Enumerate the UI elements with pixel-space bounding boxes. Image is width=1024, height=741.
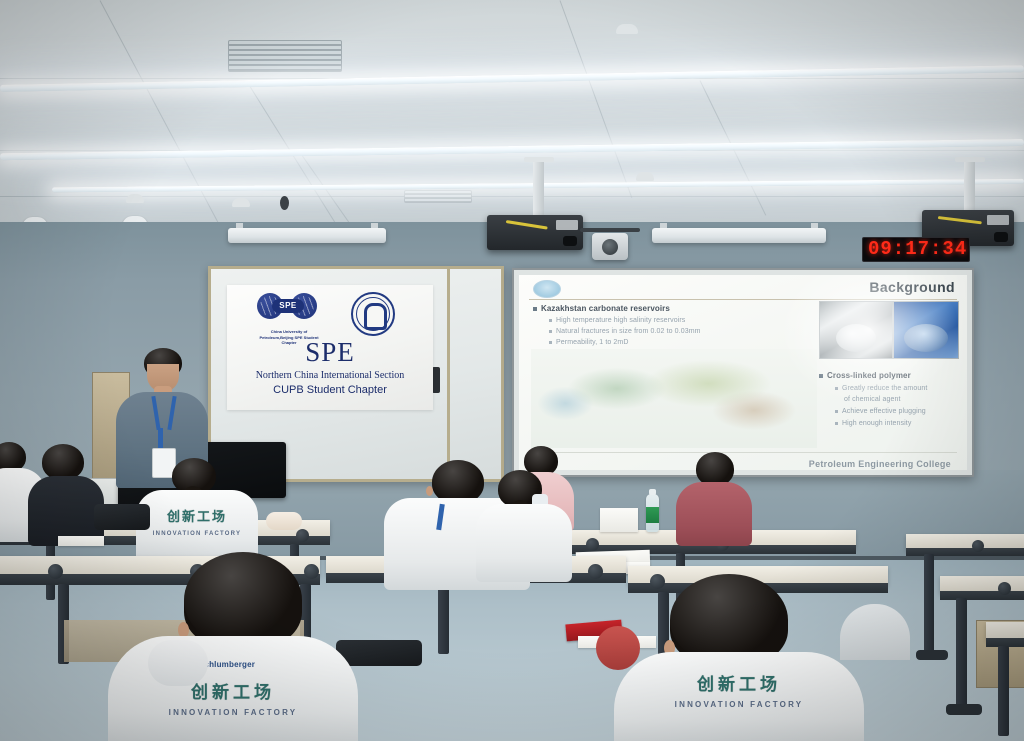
student-torso [676,482,752,546]
banner-headline: SPE [227,337,433,368]
slide-bullet-l4: Permeability, 1 to 2mD [549,339,628,346]
projector-ceiling-plate-left [524,157,554,162]
whiteboard-divider [447,269,450,479]
slide-bullet-r5: High enough intensity [835,420,911,427]
student-head [696,452,734,486]
bottle-cap [649,489,656,495]
student-torso [476,504,572,582]
projector-mount-pole-right [964,160,975,212]
slide-bullet-l1: Kazakhstan carbonate reservoirs [533,304,670,313]
spe-globe-logo-icon: SPE China University of Petroleum,Beijin… [257,293,319,327]
digital-clock: 09:17:34 [862,237,970,262]
smoke-detector-3 [616,24,638,34]
slide-bullet-l2: High temperature high salinity reservoir… [549,317,685,324]
smoke-detector-4 [636,172,654,181]
shirt-logo-english: INNOVATION FACTORY [108,702,358,720]
student-head [42,444,84,480]
projector-mount-pole-left [533,160,544,218]
shirt-logo-english: INNOVATION FACTORY [614,694,864,712]
backpack-on-desk[interactable] [94,504,150,530]
student-middle-maroon [676,452,752,544]
student-foreground-right: 创新工场 INNOVATION FACTORY [614,574,864,741]
ptz-camera-arm [580,228,640,232]
whiteboard-handle[interactable] [432,367,440,393]
student-ponytail-innovation: 创新工场 INNOVATION FACTORY [136,458,258,560]
ceiling-air-vent-secondary [404,190,472,203]
projection-screen: Background Kazakhstan carbonate reservoi… [512,268,974,477]
student-foreground-right-collar [596,626,640,670]
spe-banner: SPE China University of Petroleum,Beijin… [227,285,433,410]
slide-bullet-r4: Achieve effective plugging [835,408,926,415]
projector-ceiling-plate-right [955,157,985,162]
projector-lens-icon [563,236,577,246]
gloves-on-desk [266,512,302,530]
paper-on-desk-center[interactable] [600,508,638,532]
student-left-back-2 [28,444,104,544]
smoke-detector-2 [232,198,250,207]
paper-on-desk-left[interactable] [58,536,104,546]
ceiling-projector-left [487,215,583,250]
ceiling [0,0,1024,232]
student-front-center-ponytail [476,470,572,580]
classroom-photo: SPE China University of Petroleum,Beijin… [0,0,1024,741]
student-foreground-left-arm [148,640,208,686]
banner-chapter-line: CUPB Student Chapter [227,384,433,396]
projector-label [556,220,578,230]
ceiling-air-vent [228,40,342,72]
ptz-camera [592,233,628,260]
slide-bullet-l3: Natural fractures in size from 0.02 to 0… [549,328,701,335]
slide-glare [779,275,959,405]
bottle-label [646,507,659,523]
projector-lens-right-icon [994,232,1008,242]
spe-logo-text: SPE [272,299,304,313]
kazakhstan-map-image [531,349,817,448]
cupb-university-seal-icon [351,292,395,336]
shirt-logo-english: INNOVATION FACTORY [136,522,258,540]
banner-section-line: Northern China International Section [227,370,433,381]
slide-footer: Petroleum Engineering College [809,459,951,469]
wall-light-fixture-right [652,228,826,243]
student-foreground-left: Schlumberger 创新工场 INNOVATION FACTORY [108,552,358,741]
desk-right-3 [986,622,1024,741]
shirt-logo-chinese: 创新工场 [614,670,864,695]
projector-label-right [987,215,1009,225]
water-bottle[interactable] [646,494,659,532]
student-ear [426,486,433,496]
ceiling-speaker [280,196,289,210]
shirt-logo-chinese: 创新工场 [108,678,358,703]
clock-time: 09:17:34 [868,238,967,260]
smoke-detector-1 [126,194,144,203]
presentation-slide: Background Kazakhstan carbonate reservoi… [519,275,967,470]
shirt-sponsor-text: Schlumberger [102,660,352,669]
slide-logo-icon [533,280,561,298]
student-head [184,552,302,648]
wall-light-fixture-left [228,228,386,243]
